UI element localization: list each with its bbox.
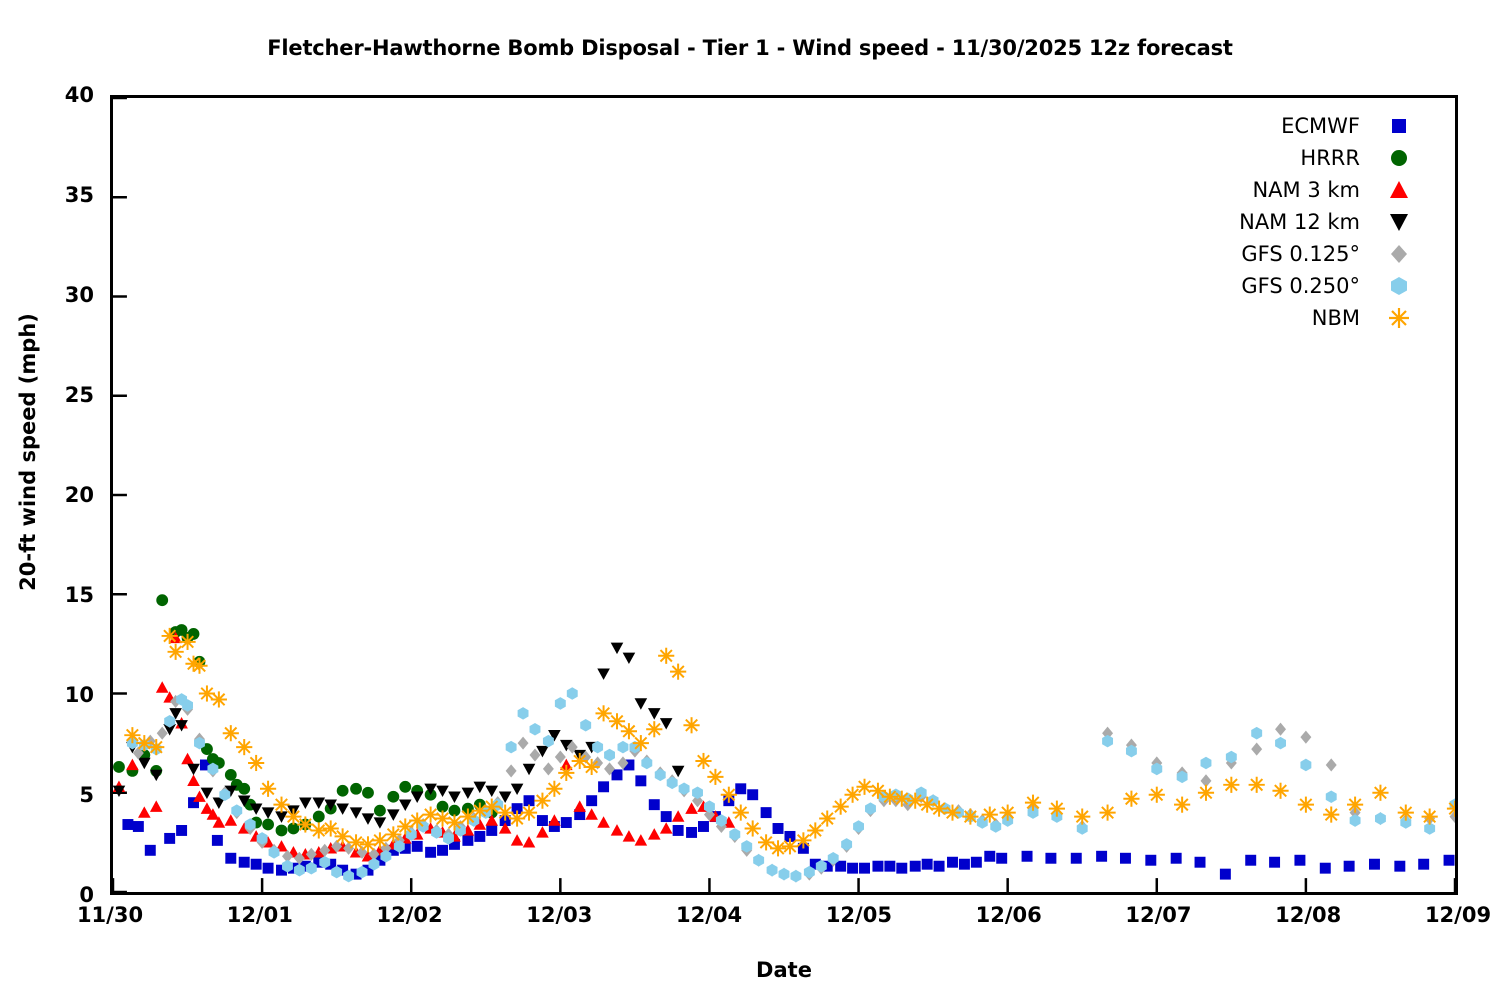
legend-item-label: HRRR	[1300, 146, 1388, 170]
x-axis-label: Date	[110, 958, 1458, 982]
triangle-down-marker	[1388, 211, 1410, 233]
y-tick-label: 5	[14, 783, 94, 807]
wind-speed-forecast-chart: Fletcher-Hawthorne Bomb Disposal - Tier …	[0, 0, 1500, 1000]
legend-item-label: NBM	[1312, 306, 1388, 330]
y-tick-label: 40	[14, 83, 94, 107]
x-tick-label: 12/06	[939, 903, 1079, 927]
x-tick-label: 12/01	[190, 903, 330, 927]
chart-legend: ECMWFHRRRNAM 3 kmNAM 12 kmGFS 0.125°GFS …	[1150, 110, 1410, 334]
x-tick-label: 12/03	[489, 903, 629, 927]
legend-item-label: NAM 12 km	[1239, 210, 1388, 234]
x-tick-label: 12/05	[789, 903, 929, 927]
triangle-up-marker	[1388, 179, 1410, 201]
x-tick-label: 12/04	[639, 903, 779, 927]
legend-item-label: GFS 0.125°	[1241, 242, 1388, 266]
x-tick-label: 12/02	[340, 903, 480, 927]
legend-item-nam-12-km[interactable]: NAM 12 km	[1150, 206, 1410, 238]
legend-item-gfs-0-125[interactable]: GFS 0.125°	[1150, 238, 1410, 270]
x-tick-label: 12/09	[1388, 903, 1500, 927]
legend-item-ecmwf[interactable]: ECMWF	[1150, 110, 1410, 142]
x-tick-label: 12/07	[1088, 903, 1228, 927]
circle-marker	[1388, 147, 1410, 169]
legend-item-nbm[interactable]: NBM	[1150, 302, 1410, 334]
x-tick-label: 12/08	[1238, 903, 1378, 927]
legend-item-nam-3-km[interactable]: NAM 3 km	[1150, 174, 1410, 206]
asterisk-marker	[1388, 307, 1410, 329]
y-axis-label: 20-ft wind speed (mph)	[16, 192, 40, 712]
legend-item-hrrr[interactable]: HRRR	[1150, 142, 1410, 174]
legend-item-label: NAM 3 km	[1252, 178, 1388, 202]
page-title: Fletcher-Hawthorne Bomb Disposal - Tier …	[0, 36, 1500, 60]
diamond-marker	[1388, 243, 1410, 265]
x-tick-label: 11/30	[40, 903, 180, 927]
legend-item-gfs-0-250[interactable]: GFS 0.250°	[1150, 270, 1410, 302]
legend-item-label: ECMWF	[1281, 114, 1388, 138]
series-nbm	[124, 628, 1455, 857]
hexagon-marker	[1388, 275, 1410, 297]
legend-item-label: GFS 0.250°	[1241, 274, 1388, 298]
square-marker	[1388, 115, 1410, 137]
